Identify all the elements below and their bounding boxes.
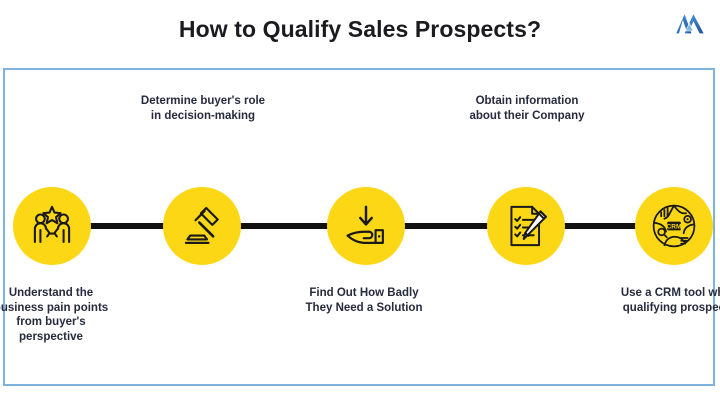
- step-1-label: Understand the business pain points from…: [0, 286, 115, 345]
- step-3-label: Find Out How Badly They Need a Solution: [300, 286, 428, 315]
- hand-receiving-arrow-icon: [343, 203, 389, 249]
- step-1-icon-circle[interactable]: [13, 187, 91, 265]
- handshake-star-icon: [28, 202, 76, 250]
- crm-globe-icon: CRM: [650, 202, 698, 250]
- gavel-icon: [179, 203, 225, 249]
- diagram-frame: Understand the business pain points from…: [3, 68, 715, 386]
- connector-line-4: [563, 223, 639, 229]
- connector-line-3: [403, 223, 491, 229]
- process-timeline: Understand the business pain points from…: [5, 70, 713, 384]
- step-5-label: Use a CRM tool while qualifying prospect…: [615, 286, 720, 315]
- connector-line-2: [239, 223, 331, 229]
- clipboard-pen-icon: [503, 203, 549, 249]
- svg-text:CRM: CRM: [667, 223, 682, 230]
- step-2-label: Determine buyer's role in decision-makin…: [139, 94, 267, 123]
- step-4-label: Obtain information about their Company: [463, 94, 591, 123]
- step-4-icon-circle[interactable]: [487, 187, 565, 265]
- connector-line-1: [89, 223, 167, 229]
- mountain-a-logo-icon: [676, 11, 704, 37]
- page-title: How to Qualify Sales Prospects?: [0, 16, 720, 43]
- step-3-icon-circle[interactable]: [327, 187, 405, 265]
- step-5-icon-circle[interactable]: CRM: [635, 187, 713, 265]
- step-2-icon-circle[interactable]: [163, 187, 241, 265]
- slide-header: How to Qualify Sales Prospects?: [0, 0, 720, 62]
